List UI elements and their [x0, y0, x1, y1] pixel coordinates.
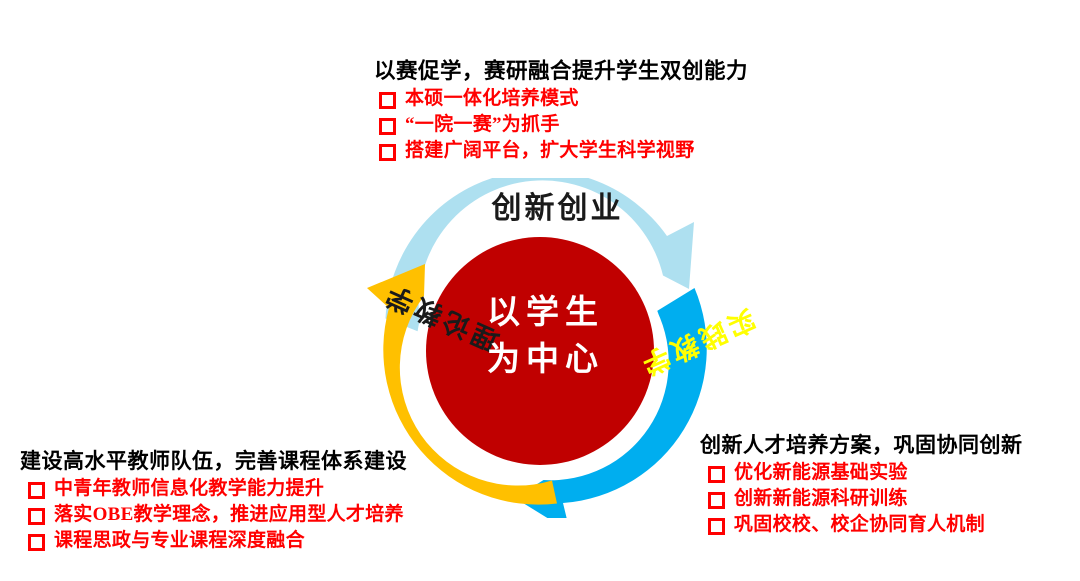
text-block-bottom-right: 创新人才培养方案，巩固协同创新 优化新能源基础实验 创新新能源科研训练 巩固校校… — [700, 432, 1023, 538]
list-item-label: “一院一赛”为抓手 — [405, 112, 560, 138]
block-top-list: 本硕一体化培养模式 “一院一赛”为抓手 搭建广阔平台，扩大学生科学视野 — [379, 86, 748, 164]
list-item-label: 巩固校校、校企协同育人机制 — [734, 512, 985, 538]
list-item-label: 搭建广阔平台，扩大学生科学视野 — [405, 138, 695, 164]
block-left-heading: 建设高水平教师队伍，完善课程体系建设 — [20, 448, 407, 474]
square-bullet-icon — [28, 534, 45, 551]
list-item-label: 本硕一体化培养模式 — [405, 86, 579, 112]
square-bullet-icon — [379, 118, 396, 135]
list-item: 本硕一体化培养模式 — [379, 86, 748, 112]
list-item-label: 创新新能源科研训练 — [734, 486, 908, 512]
block-top-heading: 以赛促学，赛研融合提升学生双创能力 — [374, 58, 748, 84]
square-bullet-icon — [28, 508, 45, 525]
slide-canvas: 以赛促学，赛研融合提升学生双创能力 本硕一体化培养模式 “一院一赛”为抓手 搭建… — [0, 0, 1080, 581]
square-bullet-icon — [28, 482, 45, 499]
list-item: 创新新能源科研训练 — [708, 486, 1023, 512]
list-item-label: 落实OBE教学理念，推进应用型人才培养 — [54, 502, 404, 528]
list-item-label: 课程思政与专业课程深度融合 — [54, 528, 305, 554]
list-item-label: 中青年教师信息化教学能力提升 — [54, 476, 324, 502]
list-item: 搭建广阔平台，扩大学生科学视野 — [379, 138, 748, 164]
center-circle[interactable] — [426, 237, 654, 465]
list-item: 课程思政与专业课程深度融合 — [28, 528, 407, 554]
list-item: “一院一赛”为抓手 — [379, 112, 748, 138]
block-left-list: 中青年教师信息化教学能力提升 落实OBE教学理念，推进应用型人才培养 课程思政与… — [28, 476, 407, 554]
list-item: 巩固校校、校企协同育人机制 — [708, 512, 1023, 538]
arc-label-top: 创新创业 — [446, 192, 666, 226]
list-item-label: 优化新能源基础实验 — [734, 460, 908, 486]
list-item: 优化新能源基础实验 — [708, 460, 1023, 486]
square-bullet-icon — [708, 518, 725, 535]
list-item: 中青年教师信息化教学能力提升 — [28, 476, 407, 502]
list-item: 落实OBE教学理念，推进应用型人才培养 — [28, 502, 407, 528]
block-right-heading: 创新人才培养方案，巩固协同创新 — [700, 432, 1023, 458]
block-right-list: 优化新能源基础实验 创新新能源科研训练 巩固校校、校企协同育人机制 — [708, 460, 1023, 538]
text-block-top: 以赛促学，赛研融合提升学生双创能力 本硕一体化培养模式 “一院一赛”为抓手 搭建… — [374, 58, 748, 164]
square-bullet-icon — [379, 144, 396, 161]
text-block-bottom-left: 建设高水平教师队伍，完善课程体系建设 中青年教师信息化教学能力提升 落实OBE教… — [20, 448, 407, 554]
square-bullet-icon — [379, 92, 396, 109]
